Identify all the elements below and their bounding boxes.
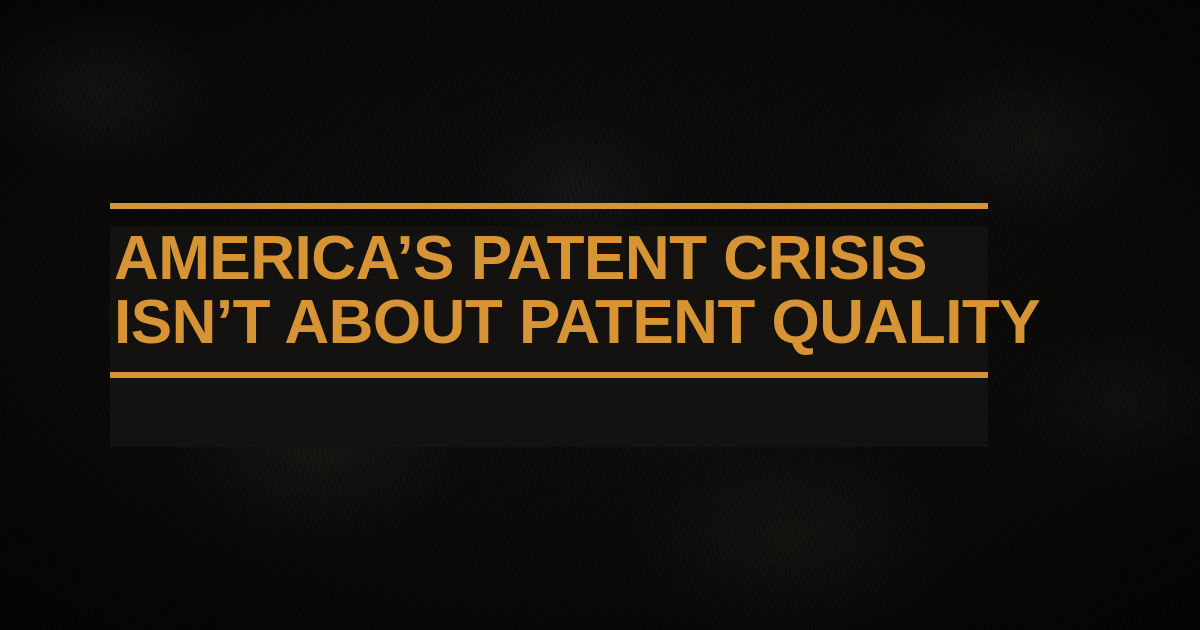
headline-block: AMERICA’S PATENT CRISIS ISN’T ABOUT PATE…	[110, 203, 988, 378]
page-title: AMERICA’S PATENT CRISIS ISN’T ABOUT PATE…	[110, 209, 988, 372]
headline-line-2: ISN’T ABOUT PATENT QUALITY	[114, 291, 988, 355]
bottom-divider-rule	[110, 372, 988, 378]
title-card: AMERICA’S PATENT CRISIS ISN’T ABOUT PATE…	[0, 0, 1200, 630]
headline-line-1: AMERICA’S PATENT CRISIS	[114, 227, 988, 291]
